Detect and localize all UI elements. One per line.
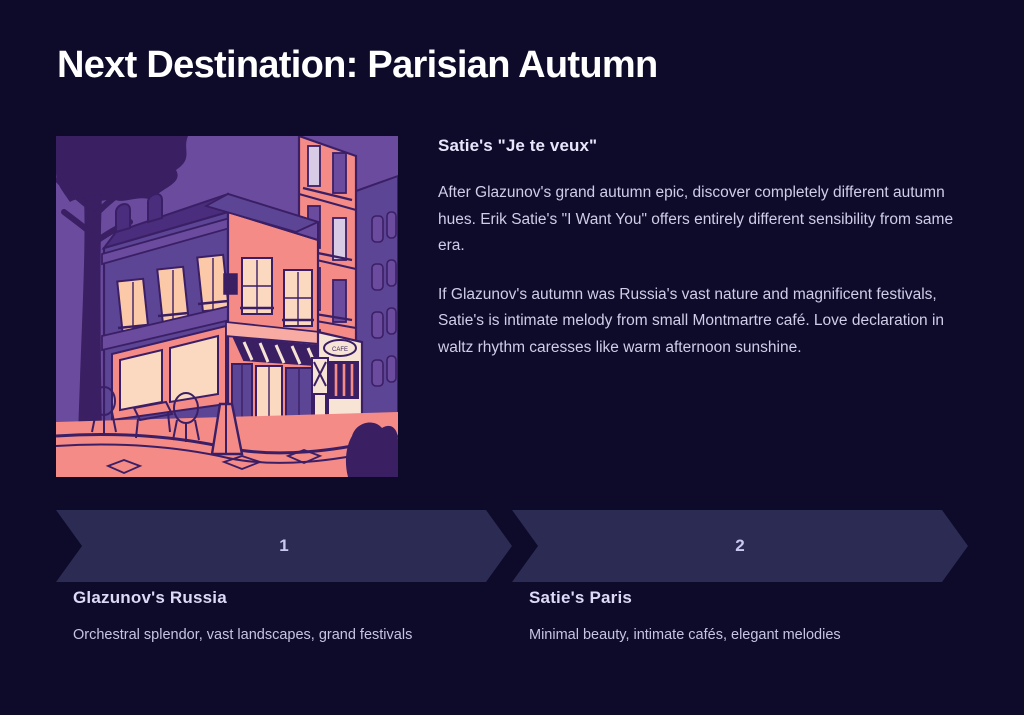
step-chevron-2[interactable]: 2 [512, 510, 968, 582]
body-paragraph-1: After Glazunov's grand autumn epic, disc… [438, 180, 968, 260]
step-title-1: Glazunov's Russia [73, 588, 512, 608]
step-number-1: 1 [279, 536, 288, 556]
step-description-2: Minimal beauty, intimate cafés, elegant … [529, 625, 968, 645]
step-caption-1: Glazunov's Russia Orchestral splendor, v… [56, 588, 512, 645]
step-title-2: Satie's Paris [529, 588, 968, 608]
step-banner-row: 1 2 [56, 510, 968, 582]
page-title: Next Destination: Parisian Autumn [57, 44, 657, 87]
step-chevron-1[interactable]: 1 [56, 510, 512, 582]
step-number-2: 2 [735, 536, 744, 556]
step-description-1: Orchestral splendor, vast landscapes, gr… [73, 625, 512, 645]
section-heading: Satie's "Je te veux" [438, 136, 968, 156]
slide-root: Next Destination: Parisian Autumn [0, 0, 1024, 715]
cafe-sign-text: CAFE [332, 347, 348, 353]
paris-cafe-illustration: CAFE [56, 136, 398, 477]
description-column: Satie's "Je te veux" After Glazunov's gr… [438, 136, 968, 361]
step-caption-2: Satie's Paris Minimal beauty, intimate c… [512, 588, 968, 645]
body-paragraph-2: If Glazunov's autumn was Russia's vast n… [438, 282, 968, 362]
main-content-row: CAFE [56, 136, 968, 481]
